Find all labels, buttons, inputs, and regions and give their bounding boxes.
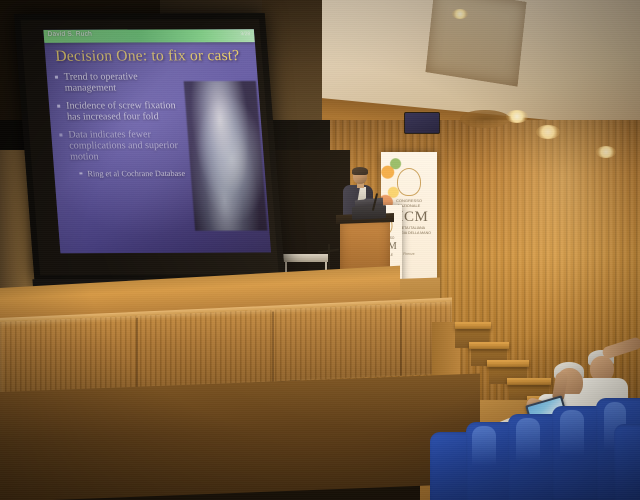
slide-speaker-name: David S. Ruch xyxy=(47,31,92,38)
wall-monitor xyxy=(404,112,440,134)
presenter-laptop xyxy=(352,205,386,220)
radiograph-image xyxy=(184,81,268,231)
banner-emblem-icon xyxy=(397,168,421,196)
slide-number: 3/28 xyxy=(240,31,250,37)
screen-frame: David S. Ruch 3/28 Decision One: to fix … xyxy=(14,13,285,281)
ceiling-panel xyxy=(425,0,526,87)
auditorium-seat[interactable] xyxy=(614,424,640,500)
downlight-icon xyxy=(452,9,468,19)
slide-bullet: Trend to operative management xyxy=(53,71,187,94)
slide-bullet: Incidence of screw fixation has increase… xyxy=(55,100,189,123)
slide-header-bar: David S. Ruch 3/28 xyxy=(43,29,255,43)
front-floor xyxy=(0,374,480,500)
banner-footer: Firenze xyxy=(403,252,414,256)
auditorium-photo: David S. Ruch 3/28 Decision One: to fix … xyxy=(0,0,640,500)
slide-bullet: Data indicates fewer complications and s… xyxy=(57,129,192,164)
slide-title: Decision One: to fix or cast? xyxy=(55,47,271,66)
speaker-hair xyxy=(352,167,368,175)
presentation-slide: David S. Ruch 3/28 Decision One: to fix … xyxy=(43,29,271,253)
wall-light-glow xyxy=(470,120,640,350)
slide-sub-bullet: Ring et al Cochrane Database xyxy=(78,169,193,179)
slide-bullet-list: Trend to operative management Incidence … xyxy=(53,71,194,179)
